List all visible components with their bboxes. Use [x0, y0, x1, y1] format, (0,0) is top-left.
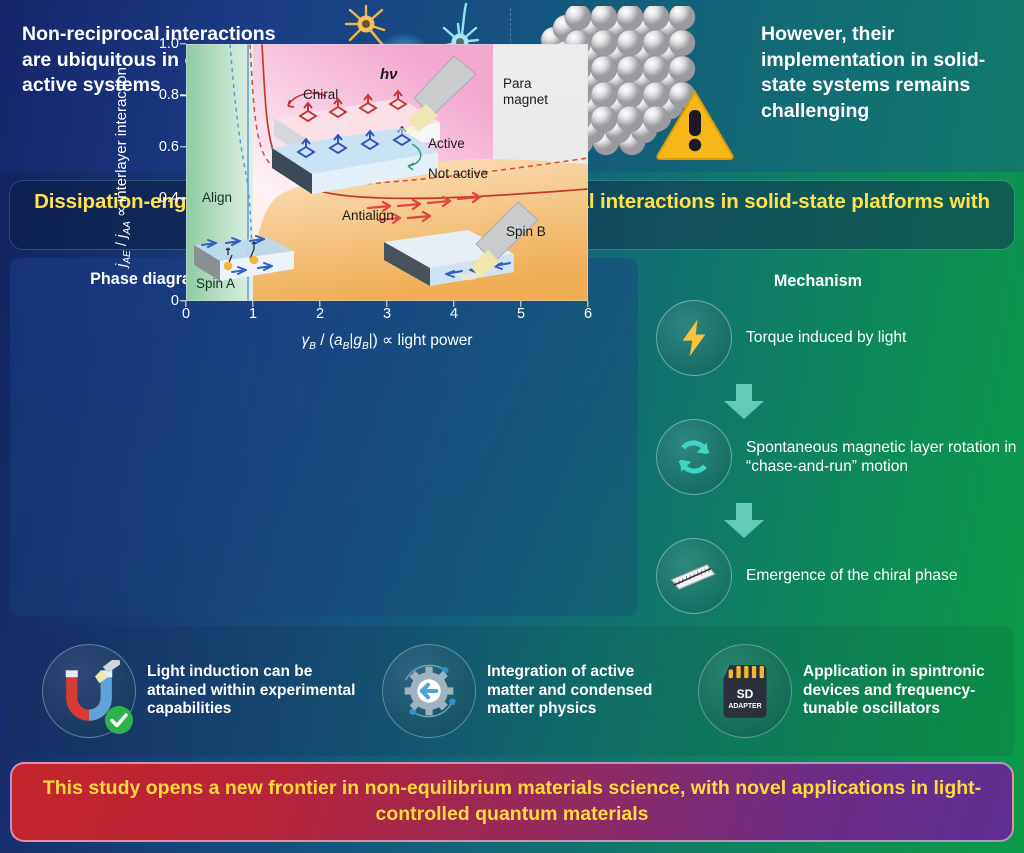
y-tick-label: 1.0 — [159, 36, 179, 52]
laser-pointer-top-icon — [392, 54, 482, 134]
x-tick-label: 4 — [450, 306, 458, 322]
sd-card-icon: SD ADAPTER — [698, 644, 792, 738]
feature-card-1: Light induction can be attained within e… — [42, 636, 368, 746]
conclusion-banner: This study opens a new frontier in non-e… — [10, 762, 1014, 842]
annotation-paramagnet: Paramagnet — [503, 76, 548, 108]
gear-cycle-icon — [382, 644, 476, 738]
green-check-badge — [104, 705, 134, 735]
mechanism-step-3: Emergence of the chiral phase — [656, 538, 1024, 614]
x-tick-label: 3 — [383, 306, 391, 322]
mechanism-step-1-text: Torque induced by light — [746, 328, 906, 347]
down-arrow-icon — [722, 384, 766, 420]
spin-a-layer-illustration — [176, 207, 296, 295]
annotation-spin-b: Spin B — [506, 224, 546, 239]
lightning-bolt-icon — [656, 300, 732, 376]
annotation-active: Active — [428, 136, 465, 151]
x-tick-label: 5 — [517, 306, 525, 322]
horseshoe-magnet-icon — [42, 644, 136, 738]
feature-card-1-text: Light induction can be attained within e… — [147, 663, 368, 719]
mechanism-step-2: Spontaneous magnetic layer rotation in “… — [656, 419, 1024, 495]
annotation-chiral: Chiral — [303, 87, 338, 102]
laser-pointer-bottom-icon — [452, 200, 542, 280]
circular-arrows-icon — [656, 419, 732, 495]
mechanism-step-2-text: Spontaneous magnetic layer rotation in “… — [746, 438, 1024, 476]
chiral-ruler-icon — [656, 538, 732, 614]
header-right-block: However, their implementation in solid-s… — [761, 22, 1006, 124]
x-axis-label: γB / (aB|gB|) ∝ light power — [186, 331, 588, 352]
phase-diagram-plot: 1.0 0.8 0.6 0.4 0 0 1 2 3 4 5 6 — [186, 44, 588, 301]
annotation-spin-a: Spin A — [196, 276, 235, 291]
mechanism-panel: Mechanism Torque induced by light Sponta… — [648, 258, 1024, 616]
y-tick-label: 0.6 — [159, 139, 179, 155]
y-tick-label: 0.4 — [159, 190, 179, 206]
annotation-align: Align — [202, 190, 232, 205]
mechanism-step-3-text: Emergence of the chiral phase — [746, 566, 958, 585]
header-right-text: However, their implementation in solid-s… — [761, 22, 1006, 124]
x-tick-label: 6 — [584, 306, 592, 322]
sd-card-sublabel: ADAPTER — [728, 703, 761, 710]
features-row: Light induction can be attained within e… — [10, 626, 1014, 756]
y-axis-label: jAE / jAA ∝ interlayer interaction — [112, 34, 136, 300]
mechanism-step-1: Torque induced by light — [656, 300, 1024, 376]
annotation-antialign: Antialign — [342, 208, 394, 223]
warning-triangle-icon — [655, 88, 735, 160]
down-arrow-icon — [722, 503, 766, 539]
annotation-not-active: Not active — [428, 166, 488, 181]
x-tick-label: 0 — [182, 306, 190, 322]
x-tick-label: 2 — [316, 306, 324, 322]
sd-card-label: SD — [737, 687, 754, 701]
annotation-hv: hν — [380, 66, 398, 83]
mechanism-title: Mechanism — [648, 272, 988, 291]
y-tick-label: 0.8 — [159, 87, 179, 103]
conclusion-text: This study opens a new frontier in non-e… — [12, 776, 1012, 828]
feature-card-2-text: Integration of active matter and condens… — [487, 663, 682, 719]
feature-card-3: SD ADAPTER Application in spintronic dev… — [698, 636, 1024, 746]
feature-card-3-text: Application in spintronic devices and fr… — [803, 663, 1024, 719]
feature-card-2: Integration of active matter and condens… — [382, 636, 682, 746]
y-tick-label: 0 — [171, 293, 179, 309]
x-tick-label: 1 — [249, 306, 257, 322]
